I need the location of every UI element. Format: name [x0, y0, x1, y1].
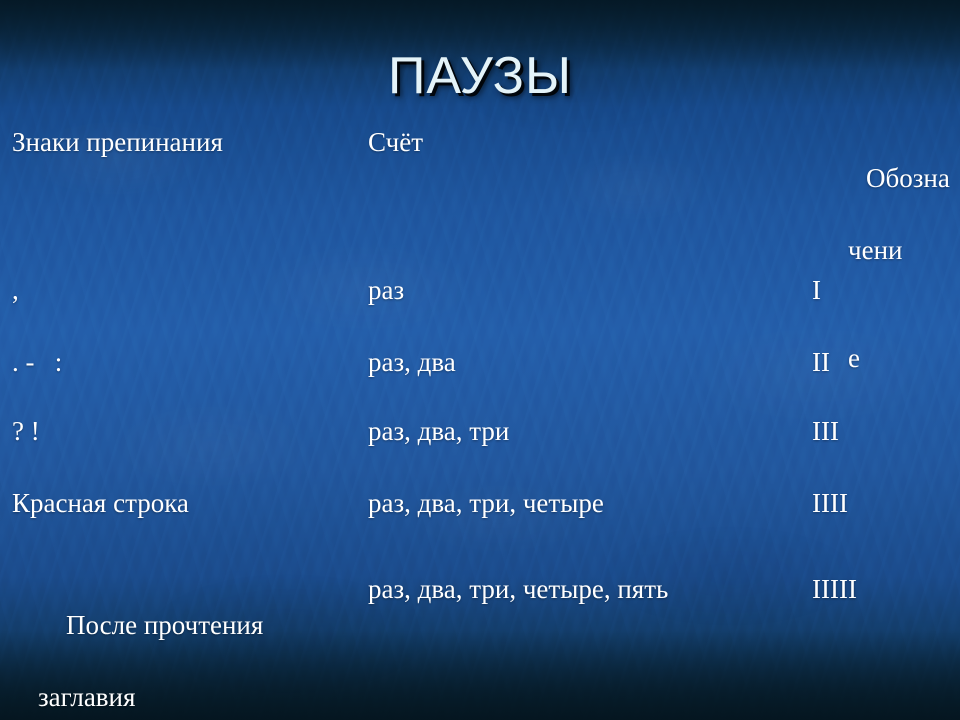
table-row: Красная строка раз, два, три, четыре III… — [0, 485, 960, 571]
presentation-slide: ПАУЗЫ Знаки препинания Счёт Обозна чени … — [0, 0, 960, 720]
cell-punctuation-marks-line-1: После прочтения — [66, 610, 263, 640]
cell-notation: IIII — [806, 485, 960, 521]
cell-count: раз, два, три, четыре, пять — [356, 571, 806, 607]
pauses-table: Знаки препинания Счёт Обозна чени е , ра… — [0, 124, 960, 661]
slide-title: ПАУЗЫ — [0, 48, 960, 104]
table-row: ? ! раз, два, три III — [0, 413, 960, 485]
header-count: Счёт — [356, 124, 806, 160]
cell-punctuation-marks-line-2: заглавия — [12, 679, 356, 715]
cell-punctuation-marks: После прочтения заглавия — [0, 571, 356, 720]
cell-notation: I — [806, 272, 960, 308]
table-row: После прочтения заглавия раз, два, три, … — [0, 571, 960, 661]
cell-count: раз, два — [356, 344, 806, 380]
cell-count: раз, два, три, четыре — [356, 485, 806, 521]
cell-punctuation-marks: Красная строка — [0, 485, 356, 521]
header-notation-line-1: Обозна — [866, 163, 950, 193]
table-header-row: Знаки препинания Счёт Обозна чени е — [0, 124, 960, 272]
cell-punctuation-marks: . - : — [0, 344, 356, 380]
cell-punctuation-marks: , — [0, 272, 356, 308]
header-notation-line-2: чени — [812, 232, 960, 268]
cell-count: раз — [356, 272, 806, 308]
cell-notation: IIIII — [806, 571, 960, 607]
cell-punctuation-marks: ? ! — [0, 413, 356, 449]
cell-notation: III — [806, 413, 960, 449]
cell-notation: II — [806, 344, 960, 380]
header-punctuation-marks: Знаки препинания — [0, 124, 356, 160]
cell-count: раз, два, три — [356, 413, 806, 449]
